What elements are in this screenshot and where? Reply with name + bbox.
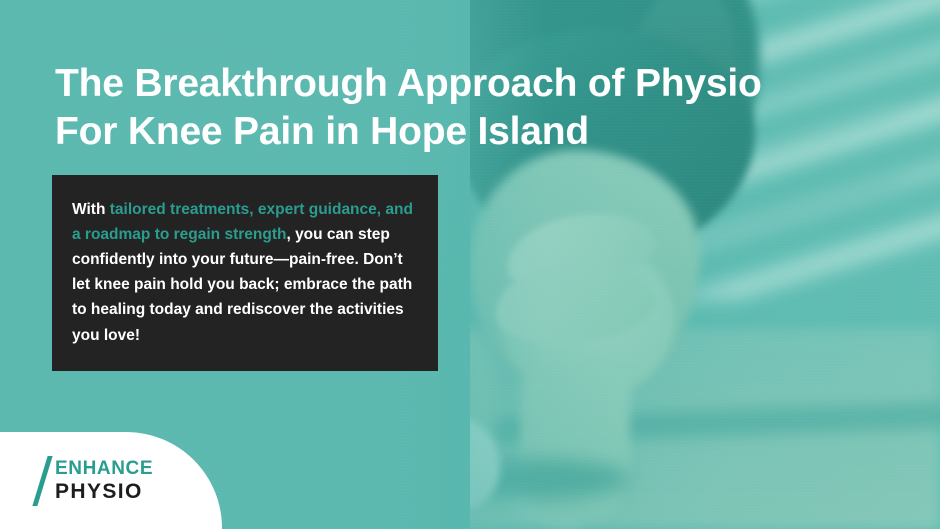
callout-lead: With — [72, 201, 110, 218]
logo-line-physio: PHYSIO — [55, 481, 153, 502]
headline-line-1: The Breakthrough Approach of Physio — [55, 62, 762, 105]
callout-box: With tailored treatments, expert guidanc… — [52, 175, 438, 371]
banner-canvas: The Breakthrough Approach of Physio For … — [0, 0, 940, 529]
callout-rest: , you can step confidently into your fut… — [72, 226, 412, 343]
slash-icon — [36, 456, 53, 506]
callout-text: With tailored treatments, expert guidanc… — [72, 197, 418, 348]
page-title: The Breakthrough Approach of Physio For … — [55, 60, 815, 155]
logo-lockup[interactable]: ENHANCE PHYSIO — [36, 456, 153, 506]
logo-wordmark: ENHANCE PHYSIO — [55, 459, 153, 502]
logo-line-enhance: ENHANCE — [55, 459, 153, 478]
headline-line-2: For Knee Pain in Hope Island — [55, 108, 815, 156]
